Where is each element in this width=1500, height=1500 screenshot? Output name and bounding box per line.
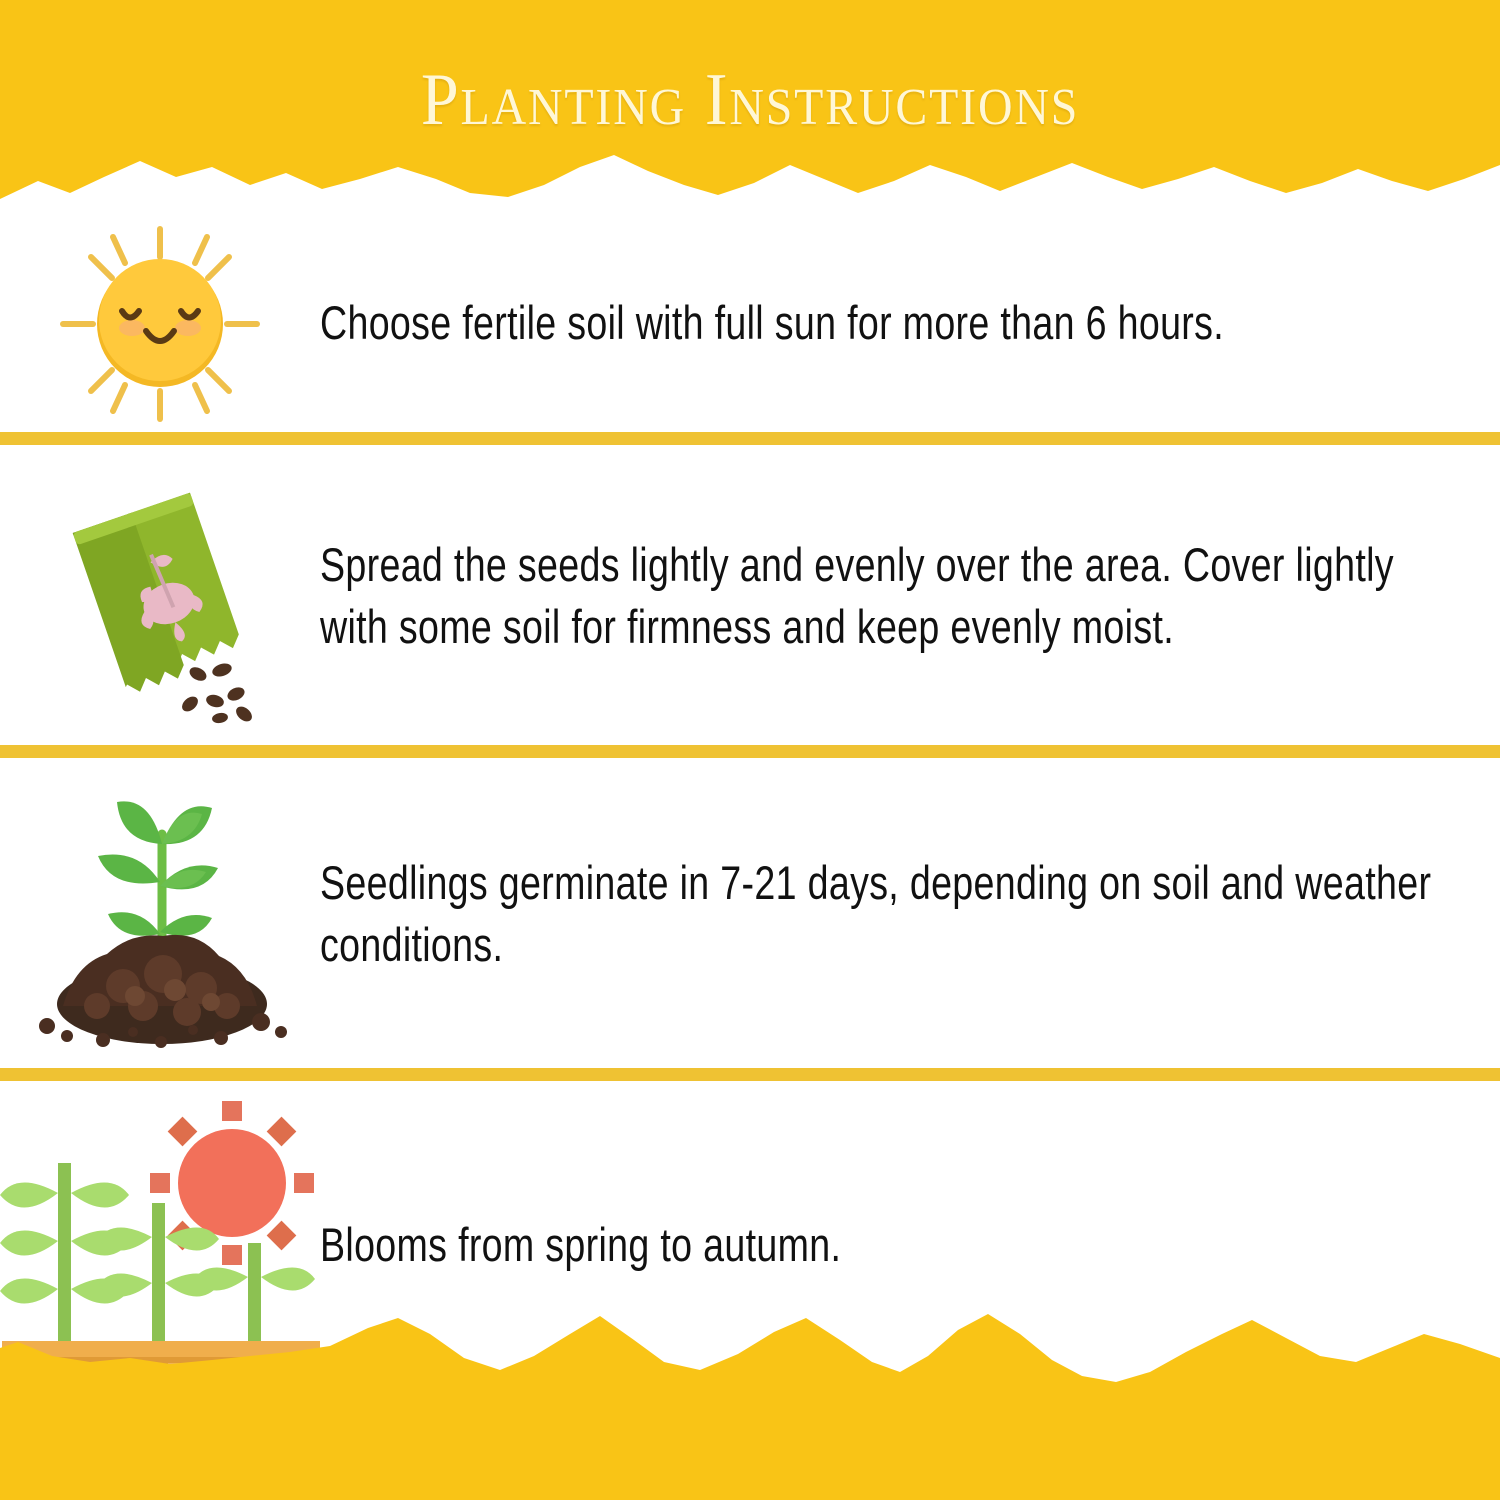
step-4-text-cell: Blooms from spring to autumn. (320, 1214, 1500, 1276)
seedling-in-soil-icon (15, 774, 305, 1054)
divider-1 (0, 432, 1500, 445)
step-3-text-cell: Seedlings germinate in 7-21 days, depend… (320, 852, 1500, 976)
step-4-text: Blooms from spring to autumn. (320, 1214, 1460, 1276)
seed-packet-icon (30, 466, 290, 726)
step-1-icon-cell (0, 221, 320, 426)
step-2-icon-cell (0, 466, 320, 726)
step-row-1: Choose fertile soil with full sun for mo… (0, 215, 1500, 432)
infographic-page: Planting Instructions (0, 0, 1500, 1500)
step-1-text-cell: Choose fertile soil with full sun for mo… (320, 292, 1500, 354)
divider-3 (0, 1068, 1500, 1081)
step-2-text: Spread the seeds lightly and evenly over… (320, 534, 1460, 658)
footer-wave-edge (0, 1300, 1500, 1500)
header-banner: Planting Instructions (0, 0, 1500, 215)
footer-banner (0, 1300, 1500, 1500)
page-title: Planting Instructions (60, 58, 1440, 143)
step-3-text: Seedlings germinate in 7-21 days, depend… (320, 852, 1460, 976)
step-3-icon-cell (0, 774, 320, 1054)
step-row-2: Spread the seeds lightly and evenly over… (0, 447, 1500, 745)
smiling-sun-icon (35, 221, 285, 426)
step-2-text-cell: Spread the seeds lightly and evenly over… (320, 534, 1500, 658)
step-row-3: Seedlings germinate in 7-21 days, depend… (0, 760, 1500, 1068)
header-wave-edge (0, 137, 1500, 215)
step-1-text: Choose fertile soil with full sun for mo… (320, 292, 1460, 354)
divider-2 (0, 745, 1500, 758)
